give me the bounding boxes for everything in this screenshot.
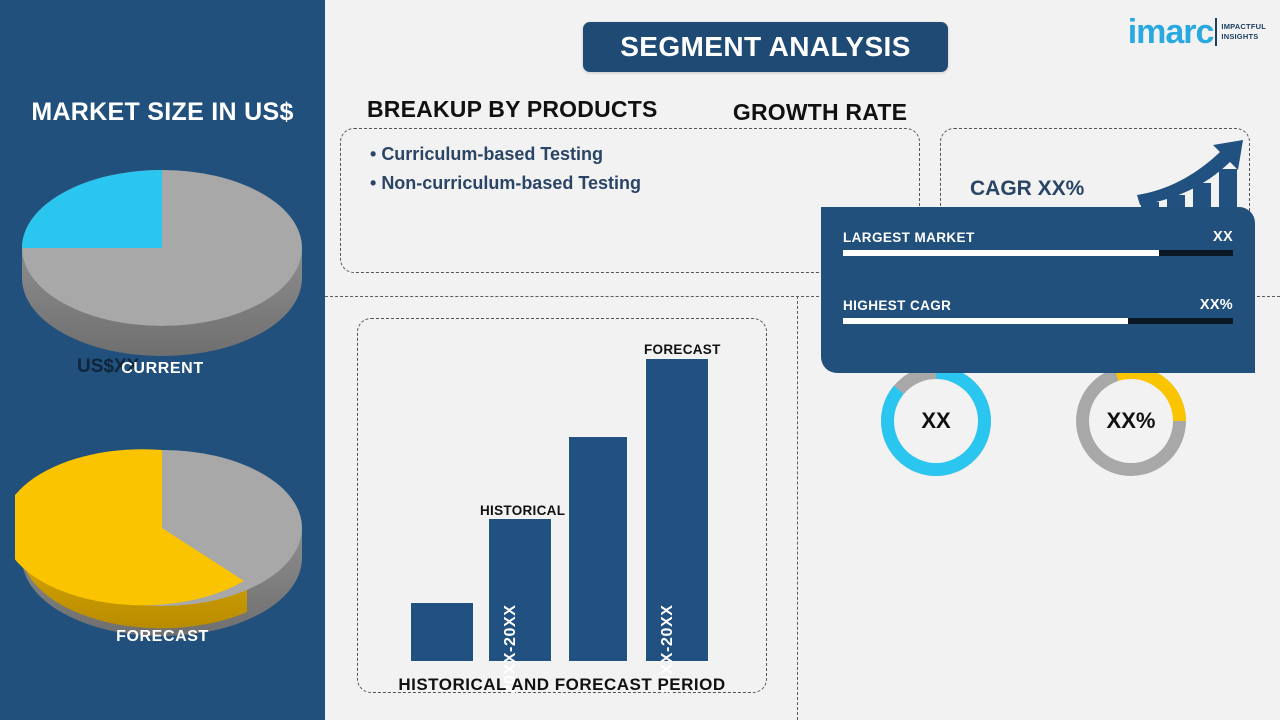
stat-row-largest-market: LARGEST MARKET XX <box>843 229 1233 256</box>
logo-tagline-line2: INSIGHTS <box>1221 32 1266 42</box>
products-heading: BREAKUP BY PRODUCTS <box>367 96 658 123</box>
growth-heading: GROWTH RATE <box>670 99 970 126</box>
stat-value-highest-cagr: XX% <box>1200 297 1233 313</box>
cagr-donut-center: XX% <box>1089 379 1173 463</box>
logo-wordmark: imarc <box>1128 15 1214 49</box>
page-title: SEGMENT ANALYSIS <box>583 22 948 72</box>
product-item-0: Curriculum-based Testing <box>370 140 641 169</box>
forecast-tag: FORECAST <box>644 342 721 357</box>
current-pie-label: CURRENT <box>0 360 325 378</box>
stat-track-largest-market <box>843 250 1233 256</box>
current-market-size-pie: US$XX <box>15 160 310 360</box>
logo-tagline-line1: IMPACTFUL <box>1221 22 1266 32</box>
historical-tag: HISTORICAL <box>480 503 565 518</box>
logo-tagline: IMPACTFUL INSIGHTS <box>1221 22 1266 42</box>
stat-fill-largest-market <box>843 250 1159 256</box>
period-chart-box: 20XX-20XX 20XX-20XX HISTORICAL FORECAST <box>357 318 767 693</box>
market-share-donut-value: XX <box>921 408 950 434</box>
key-stats-panel: LARGEST MARKET XX HIGHEST CAGR XX% <box>821 207 1255 373</box>
period-chart-caption: HISTORICAL AND FORECAST PERIOD <box>357 675 767 695</box>
stat-fill-highest-cagr <box>843 318 1128 324</box>
forecast-market-size-pie: US$XX <box>15 440 310 640</box>
divider-vertical <box>797 296 798 720</box>
market-size-panel: MARKET SIZE IN US$ US$XX CURRENT <box>0 0 325 720</box>
bar-3: 20XX-20XX <box>646 359 708 661</box>
market-size-title: MARKET SIZE IN US$ <box>0 98 325 127</box>
imarc-logo: imarc IMPACTFUL INSIGHTS <box>1128 12 1266 52</box>
stat-row-highest-cagr: HIGHEST CAGR XX% <box>843 297 1233 324</box>
stat-label-highest-cagr: HIGHEST CAGR <box>843 298 951 313</box>
infographic-root: MARKET SIZE IN US$ US$XX CURRENT <box>0 0 1280 720</box>
product-item-1: Non-curriculum-based Testing <box>370 169 641 198</box>
period-bar-chart: 20XX-20XX 20XX-20XX HISTORICAL FORECAST <box>358 319 768 694</box>
forecast-pie-label: FORECAST <box>0 628 325 646</box>
forecast-pie-svg <box>15 440 310 640</box>
current-pie-svg <box>15 160 310 360</box>
stat-head-largest-market: LARGEST MARKET XX <box>843 229 1233 245</box>
logo-divider <box>1215 18 1217 46</box>
bar-2 <box>569 437 627 661</box>
stat-head-highest-cagr: HIGHEST CAGR XX% <box>843 297 1233 313</box>
bar-0 <box>411 603 473 661</box>
products-list: Curriculum-based Testing Non-curriculum-… <box>370 140 641 198</box>
market-share-donut: XX <box>875 360 997 482</box>
cagr-donut-value: XX% <box>1107 408 1156 434</box>
bar-1: 20XX-20XX <box>489 519 551 661</box>
market-share-donut-center: XX <box>894 379 978 463</box>
stat-label-largest-market: LARGEST MARKET <box>843 230 975 245</box>
stat-value-largest-market: XX <box>1213 229 1233 245</box>
content-area: SEGMENT ANALYSIS imarc IMPACTFUL INSIGHT… <box>325 0 1280 720</box>
cagr-donut: XX% <box>1070 360 1192 482</box>
stat-track-highest-cagr <box>843 318 1233 324</box>
cagr-value: CAGR XX% <box>970 175 1094 203</box>
